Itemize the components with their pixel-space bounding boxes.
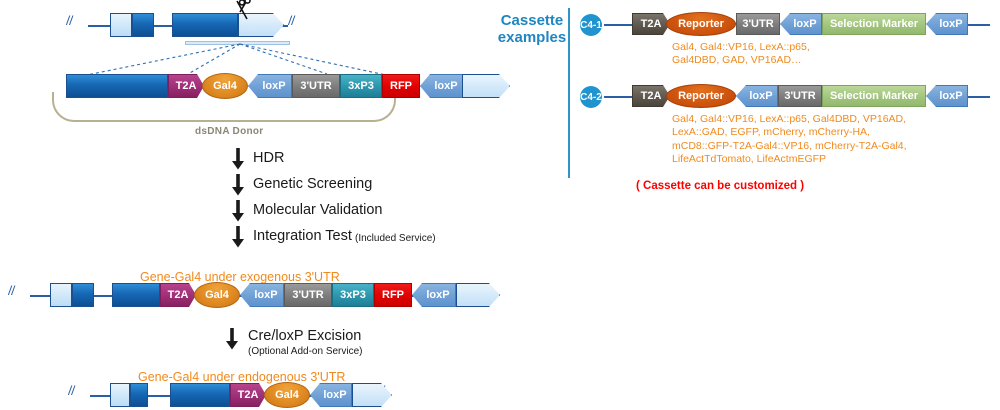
final-exon-cds-small — [130, 383, 148, 407]
workflow-label-integration-test: Integration Test — [253, 228, 352, 244]
c4-2-element-reporter: Reporter — [666, 84, 736, 108]
integrated-exon-cds-small — [72, 283, 94, 307]
c4-1-element-t2a: T2A — [632, 13, 670, 35]
integrated-element-t2a: T2A — [160, 283, 196, 307]
donor-element-3utr: 3'UTR — [292, 74, 340, 98]
c4-1-element-3utr: 3'UTR — [736, 13, 780, 35]
c4-1-element-selection-marker: Selection Marker — [822, 13, 926, 35]
c4-2-element-t2a: T2A — [632, 85, 670, 107]
integrated-element-rfp: RFP — [374, 283, 412, 307]
dsdna-donor-caption: dsDNA Donor — [195, 126, 263, 137]
integrated-element-loxp-2: loxP — [412, 283, 456, 307]
integrated-locus-caption: Gene-Gal4 under exogenous 3'UTR — [140, 270, 340, 284]
final-exon-utr — [110, 383, 130, 407]
integrated-exon-cds-large — [112, 283, 160, 307]
excision-arrow — [224, 328, 240, 350]
final-break-left: // — [68, 383, 74, 400]
final-element-t2a: T2A — [230, 383, 266, 407]
cassette-panel-title-line1: Cassette — [486, 12, 578, 29]
cassette-line-left-c4-2 — [604, 96, 632, 98]
cassette-customization-note: ( Cassette can be customized ) — [636, 180, 804, 192]
panel-divider — [568, 8, 570, 178]
integrated-element-3xp3: 3xP3 — [332, 283, 374, 307]
workflow-arrow-3 — [230, 200, 246, 222]
workflow-label-molecular-validation: Molecular Validation — [253, 202, 383, 218]
final-downstream-exon — [352, 383, 392, 407]
c4-2-element-loxp-2: loxP — [926, 85, 968, 107]
excision-label: Cre/loxP Excision — [248, 328, 361, 344]
c4-2-element-selection-marker: Selection Marker — [822, 85, 926, 107]
c4-1-element-loxp-2: loxP — [926, 13, 968, 35]
cassette-line-left-c4-1 — [604, 24, 632, 26]
donor-element-rfp: RFP — [382, 74, 420, 98]
excision-sub: (Optional Add-on Service) — [248, 346, 363, 357]
final-element-loxp: loxP — [310, 383, 352, 407]
c4-1-element-loxp-1: loxP — [780, 13, 822, 35]
donor-element-t2a: T2A — [168, 74, 204, 98]
cassette-badge-c4-2: C4-2 — [580, 86, 602, 108]
cassette-line-right-c4-1 — [968, 24, 990, 26]
homology-arm-left — [66, 74, 168, 98]
integrated-element-gal4: Gal4 — [194, 282, 240, 308]
final-locus-caption: Gene-Gal4 under endogenous 3'UTR — [138, 370, 345, 384]
donor-element-3xp3: 3xP3 — [340, 74, 382, 98]
c4-2-gene-list: Gal4, Gal4::VP16, LexA::p65, Gal4DBD, VP… — [672, 113, 907, 167]
workflow-arrow-1 — [230, 148, 246, 170]
workflow-arrow-4 — [230, 226, 246, 248]
c4-1-gene-list: Gal4, Gal4::VP16, LexA::p65, Gal4DBD, GA… — [672, 41, 810, 68]
c4-1-element-reporter: Reporter — [666, 12, 736, 36]
cassette-line-right-c4-2 — [968, 96, 990, 98]
workflow-label-genetic-screening: Genetic Screening — [253, 176, 372, 192]
homology-arm-right — [462, 74, 510, 98]
integrated-exon-utr — [50, 283, 72, 307]
workflow-label-hdr: HDR — [253, 150, 284, 166]
cassette-badge-c4-1: C4-1 — [580, 14, 602, 36]
cassette-panel-title: Cassette examples — [486, 12, 578, 46]
integrated-break-left: // — [8, 283, 14, 300]
c4-2-element-3utr: 3'UTR — [778, 85, 822, 107]
final-exon-cds-large — [170, 383, 230, 407]
final-element-gal4: Gal4 — [264, 382, 310, 408]
workflow-sub-integration-test: (Included Service) — [355, 233, 436, 244]
integrated-element-loxp-1: loxP — [240, 283, 284, 307]
c4-2-element-loxp-1: loxP — [736, 85, 778, 107]
workflow-arrow-2 — [230, 174, 246, 196]
donor-element-gal4: Gal4 — [202, 73, 248, 99]
integrated-element-3utr: 3'UTR — [284, 283, 332, 307]
cassette-panel-title-line2: examples — [486, 29, 578, 46]
integrated-downstream-exon — [456, 283, 500, 307]
